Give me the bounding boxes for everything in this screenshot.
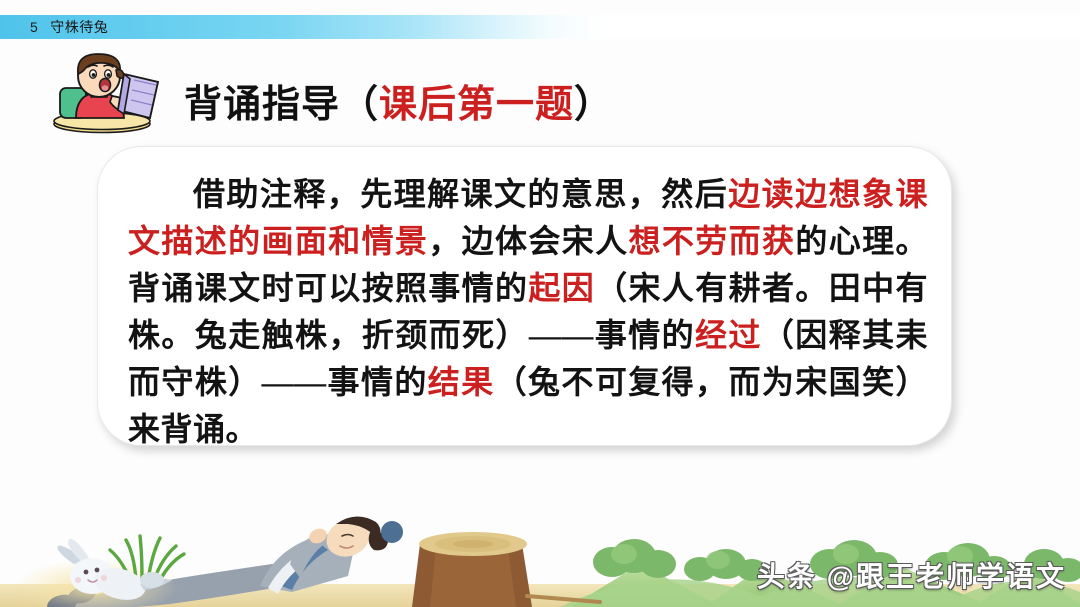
breadcrumb: 5守株待兔	[30, 16, 108, 38]
text-segment-2: ，边体会宋人	[428, 223, 628, 259]
lesson-number: 5	[30, 19, 38, 35]
text-highlight-4: 经过	[695, 317, 762, 353]
grass-tuft-illustration	[110, 536, 184, 580]
page-title-main: 背诵指导	[184, 84, 340, 126]
page-title: 背诵指导（课后第一题）	[184, 73, 613, 128]
instruction-text: 借助注释，先理解课文的意思，然后边读边想象课文描述的画面和情景，边体会宋人想不劳…	[128, 171, 928, 453]
text-highlight-2: 想不劳而获	[629, 223, 796, 259]
white-rabbit-illustration	[58, 539, 173, 605]
boy-reading-book-icon	[46, 52, 170, 134]
page-title-paren-close: ）	[574, 84, 613, 126]
text-segment-1: 借助注释，先理解课文的意思，然后	[192, 176, 728, 212]
rabbit-and-grass-illustration	[14, 536, 184, 607]
reclining-man-illustration	[45, 513, 403, 607]
page-title-row: 背诵指导（课后第一题）	[46, 52, 613, 134]
page-title-highlight: 课后第一题	[379, 84, 574, 126]
lesson-title: 守株待兔	[50, 19, 108, 35]
slide-root: 5守株待兔	[0, 0, 1080, 607]
page-title-paren-open: （	[340, 84, 379, 126]
tree-stump-illustration	[412, 532, 600, 607]
header-bar	[0, 15, 1080, 39]
instruction-card: 借助注释，先理解课文的意思，然后边读边想象课文描述的画面和情景，边体会宋人想不劳…	[97, 146, 952, 446]
text-highlight-3: 起因	[528, 270, 595, 306]
text-highlight-5: 结果	[428, 364, 495, 400]
watermark: 头条 @跟王老师学语文	[757, 555, 1066, 595]
